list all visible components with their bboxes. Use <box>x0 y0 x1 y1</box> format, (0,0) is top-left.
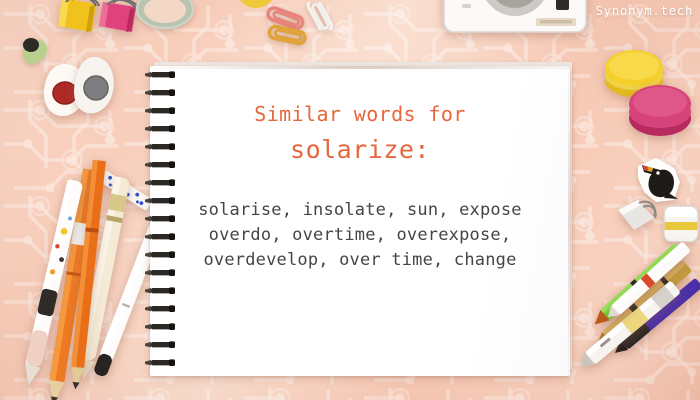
page-text-area: Similar words for solarize: solarise, in… <box>150 66 570 376</box>
paper-clip-gold <box>266 23 308 49</box>
synonym-line: solarise, insolate, sun, expose <box>198 198 521 223</box>
headword: solarize: <box>290 135 430 164</box>
synonym-list: solarise, insolate, sun, expose overdo, … <box>198 198 521 273</box>
desk-scene: Similar words for solarize: solarise, in… <box>0 0 700 400</box>
synonym-line: overdo, overtime, overexpose, <box>198 223 521 248</box>
camera <box>440 0 590 46</box>
macaron-pink <box>625 78 695 140</box>
synonym-line: overdevelop, over time, change <box>198 248 521 273</box>
page-title: Similar words for <box>254 102 466 126</box>
washi-tape-roll <box>133 0 197 32</box>
notebook: Similar words for solarize: solarise, in… <box>150 66 570 376</box>
watermark: Synonym.tech <box>595 3 693 18</box>
binder-clip-silver <box>612 196 660 238</box>
avocado-eraser-right <box>70 55 120 117</box>
